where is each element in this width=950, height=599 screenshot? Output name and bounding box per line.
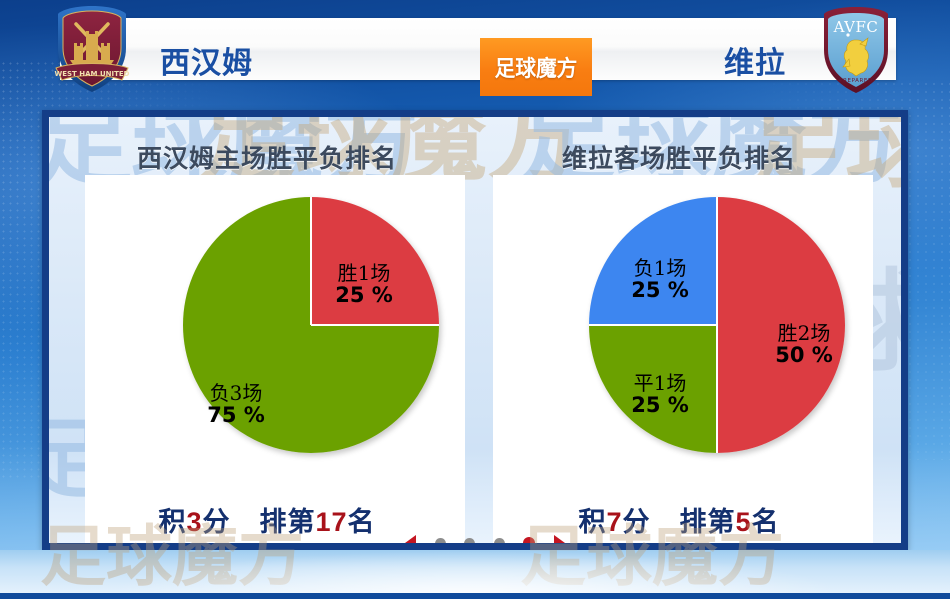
away-crest-motto: PREPARED [839,78,873,84]
home-rank-value: 17 [316,507,348,537]
pie-separator-away-2 [589,324,717,326]
home-team-name: 西汉姆 [160,38,253,82]
home-team-crest-west-ham-united-icon: WEST HAM UNITED [52,4,132,96]
pager-dot-2[interactable] [464,538,475,549]
away-team-crest-aston-villa-icon: AVFC PREPARED [816,4,896,96]
brand-logo-text: 足球魔方 [495,51,578,83]
pie-label-away-draw: 平1场 25 % [605,372,715,418]
brand-logo[interactable]: 足球魔方 [480,38,592,96]
pager-dot-3[interactable] [494,538,505,549]
home-rank-unit: 名 [348,507,376,537]
pie-label-home-loss: 负3场 75 % [181,382,291,428]
pie-label-away-win: 胜2场 50 % [749,322,859,368]
stats-panel-frame: 足球魔方 足球魔方 足球魔方 足球魔方 足球魔方 足球魔方 西汉姆主场胜平负排名… [42,110,908,550]
home-crest-text: WEST HAM UNITED [55,70,130,78]
triangle-left-icon[interactable] [405,535,416,550]
chart-title-away: 维拉客场胜平负排名 [469,139,889,175]
pie-label-away-loss: 负1场 25 % [605,257,715,303]
away-crest-initials: AVFC [833,18,879,36]
bottom-strip: 足球魔方 足球魔方 [0,550,950,593]
pie-separator-home-2 [311,324,439,326]
away-team-name: 维拉 [724,38,786,82]
match-header-bar: 西汉姆 足球魔方 维拉 [60,18,896,80]
chart-title-home: 西汉姆主场胜平负排名 [57,139,477,175]
bottom-strip-glow [0,550,950,593]
pager-dot-1[interactable] [435,538,446,549]
pie-label-home-win: 胜1场 25 % [309,262,419,308]
